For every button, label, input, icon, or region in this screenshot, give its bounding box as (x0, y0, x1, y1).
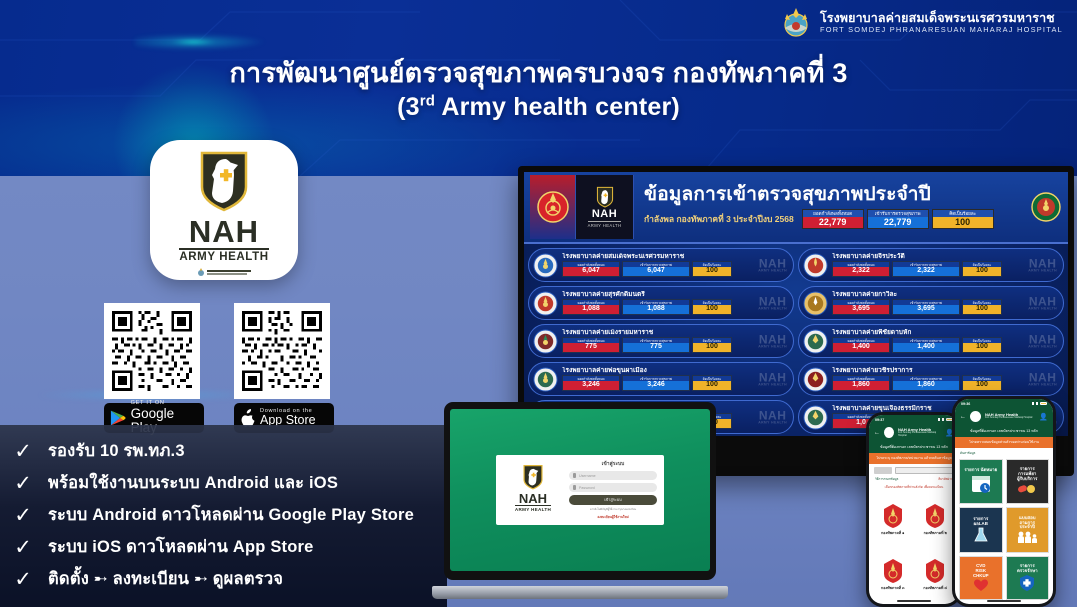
login-brand: NAH (519, 492, 547, 505)
hospital-checked: เข้ารับการตรวจสุขภาพ3,695 (892, 299, 960, 315)
accent-glow-top (135, 34, 265, 50)
hospital-checked-value: 1,088 (623, 305, 689, 314)
app-store-qr[interactable] (234, 303, 330, 399)
forgot-password-link[interactable]: ลืมรหัสผ่าน (938, 477, 953, 482)
poster-canvas: โรงพยาบาลค่ายสมเด็จพระนเรศวรมหาราช FORT … (0, 0, 1077, 607)
hospital-total-value: 1,400 (833, 343, 889, 352)
back-arrow-icon[interactable]: ← (960, 414, 966, 420)
phone-right-tile-grid: รายการ นัดหมาย รายการ การแพ้ยา ผู้รับบริ… (955, 459, 1053, 604)
hospital-total-value: 3,695 (833, 305, 889, 314)
dashboard-brand-sub: ARMY HEALTH (588, 221, 622, 228)
hospital-kpis: ยอดกำลังพลทั้งหมด3,695 เข้ารับการตรวจสุข… (832, 299, 1059, 315)
phone-mockup-left: 09:37 ← NAH Army Health Fort Somdej Phra… (866, 412, 962, 607)
hospital-total-value: 1,860 (833, 381, 889, 390)
service-tile-questionnaire-label: แบบสอบ ถามการ ประจำปี (1019, 516, 1036, 531)
search-input[interactable] (895, 467, 954, 474)
hospital-name: โรงพยาบาลค่ายสมเด็จพระนเรศวรมหาราช (562, 253, 789, 261)
login-tagline: ARMY HEALTH (515, 505, 551, 512)
list-item: ✓ พร้อมใช้งานบนระบบ Android และ iOS (10, 467, 447, 499)
hospital-checked-value: 3,695 (893, 305, 959, 314)
list-item: ✓ ระบบ Android ดาวโหลดผ่าน Google Play S… (10, 499, 447, 531)
family-icon (1016, 530, 1038, 544)
service-tile-cvd-risk-label: CVD RISK CHKUP (973, 564, 989, 579)
hospital-total-value: 1,088 (563, 305, 619, 314)
battery-icon (1040, 402, 1047, 406)
hospital-seal-icon (803, 329, 828, 354)
hospital-checked: เข้ารับการตรวจสุขภาพ3,246 (622, 375, 690, 391)
kpi-percent: คิดเป็นร้อยละ 100 (932, 209, 994, 230)
army-region-tile-label: กองทัพภาคที่ ๑ (881, 530, 904, 536)
laptop-notch (559, 402, 601, 409)
hospital-total-value: 2,322 (833, 267, 889, 276)
kpi-checked-value: 22,779 (868, 217, 928, 229)
phone-left-status-icons (938, 418, 953, 422)
phone-left-hint: เลือกกองทัพภาคที่ท่านสังกัด เพื่อลงทะเบี… (869, 484, 959, 493)
hospital-checked: เข้ารับการตรวจสุขภาพ6,047 (622, 261, 690, 277)
army-region-tile[interactable]: กองทัพภาคที่ ๑ (873, 493, 913, 545)
hospital-seal-icon (803, 367, 828, 392)
signal-icon (1032, 402, 1034, 405)
hospital-seal-icon (803, 405, 828, 430)
app-card-footer-text (207, 270, 251, 275)
army-region-tile-label: กองทัพภาคที่ ๔ (923, 585, 947, 591)
kpi-checked: เข้ารับการตรวจสุขภาพ 22,779 (867, 209, 929, 230)
hospital-total: ยอดกำลังพลทั้งหมด1,400 (832, 337, 890, 353)
royal-crest-icon (535, 189, 571, 225)
google-play-qr[interactable] (104, 303, 200, 399)
google-play-qr-block[interactable]: GET IT ON Google Play (104, 303, 204, 433)
hospital-checked-value: 1,860 (893, 381, 959, 390)
hospital-total: ยอดกำลังพลทั้งหมด775 (562, 337, 620, 353)
laptop-lid: NAH ARMY HEALTH เข้าสู่ระบบ Username Pas… (444, 402, 716, 580)
hospital-total: ยอดกำลังพลทั้งหมด3,246 (562, 375, 620, 391)
phone-left-screen: 09:37 ← NAH Army Health Fort Somdej Phra… (869, 415, 959, 604)
title-line-2-post: Army health center) (435, 93, 680, 121)
wifi-icon (1036, 402, 1038, 405)
table-row: โรงพยาบาลค่ายกาวิละ ยอดกำลังพลทั้งหมด3,6… (798, 286, 1064, 320)
hospital-percent: คิดเป็นร้อยละ100 (692, 375, 732, 391)
phone-left-search-row[interactable] (869, 464, 959, 477)
bullet-label: รองรับ 10 รพ.ทภ.3 (48, 438, 185, 464)
hospital-checked: เข้ารับการตรวจสุขภาพ1,088 (622, 299, 690, 315)
dashboard-nah-logo: NAH ARMY HEALTH (576, 175, 634, 239)
service-tile-treatment[interactable]: รายการ ตรวจรักษา (1006, 556, 1050, 600)
region-select[interactable] (874, 467, 892, 474)
hospital-mini-emblem-icon (197, 268, 205, 277)
hospital-name: โรงพยาบาลค่ายสุรศักดิ์มนตรี (562, 291, 789, 299)
phone-left-alert-bar: โปรดระบุ กองทัพภาค/หน่วยงาน แล้วกดค้นหาข… (869, 453, 959, 464)
password-field[interactable]: Password (569, 483, 657, 492)
phone-right-info-bar: ข้อมูลที่ต้องกรอก เลขบัตรประชาชน 13 หลัก (955, 425, 1053, 437)
hospital-total: ยอดกำลังพลทั้งหมด6,047 (562, 261, 620, 277)
hospital-kpis: ยอดกำลังพลทั้งหมด1,400 เข้ารับการตรวจสุข… (832, 337, 1059, 353)
phone-left-status-bar: 09:37 (869, 415, 959, 424)
thai-flag-banner (530, 175, 576, 239)
title-line-2: (3rd Army health center) (0, 92, 1077, 122)
heart-risk-icon (974, 579, 988, 592)
list-item: ✓ ระบบ iOS ดาวโหลดผ่าน App Store (10, 531, 447, 563)
hospital-seal-icon (803, 253, 828, 278)
hospital-total-value: 3,246 (563, 381, 619, 390)
army-region-tile[interactable]: กองทัพภาคที่ ๓ (873, 548, 913, 600)
hospital-kpis: ยอดกำลังพลทั้งหมด6,047 เข้ารับการตรวจสุข… (562, 261, 789, 277)
phone-left-navbar: ← NAH Army Health Fort Somdej Phranaresu… (869, 424, 959, 441)
hospital-info: โรงพยาบาลค่ายสุรศักดิ์มนตรี ยอดกำลังพลทั… (562, 291, 789, 315)
dashboard-subtitle: กำลังพล กองทัพภาคที่ 3 ประจำปีงบ 2568 (644, 212, 794, 226)
service-tile-appointments[interactable]: รายการ นัดหมาย (959, 459, 1003, 504)
hospital-info: โรงพยาบาลค่ายกาวิละ ยอดกำลังพลทั้งหมด3,6… (832, 291, 1059, 315)
phone-right-alert-bar: โปรดตรวจสอบข้อมูลส่วนตัวของท่านก่อนใช้งา… (955, 437, 1053, 448)
dashboard-title: ข้อมูลการเข้าตรวจสุขภาพประจำปี (644, 185, 1062, 206)
dashboard-brand: NAH (592, 209, 617, 220)
dashboard-kpi-group: ยอดกำลังพลทั้งหมด 22,779 เข้ารับการตรวจส… (802, 209, 994, 230)
hospital-info: โรงพยาบาลค่ายสมเด็จพระนเรศวรมหาราช ยอดกำ… (562, 253, 789, 277)
phone-left-info-bar: ข้อมูลที่ต้องกรอก เลขบัตรประชาชน 13 หลัก (869, 441, 959, 453)
service-tile-cvd-risk[interactable]: CVD RISK CHKUP (959, 556, 1003, 600)
check-icon: ✓ (10, 441, 36, 462)
login-note: หากยังไม่มีบัญชีผู้ใช้งาน กรุณาลงทะเบียน (590, 508, 636, 512)
hospital-logo-text: โรงพยาบาลค่ายสมเด็จพระนเรศวรมหาราช FORT … (820, 12, 1063, 34)
login-submit-button[interactable]: เข้าสู่ระบบ (569, 495, 657, 505)
hospital-name: โรงพยาบาลค่ายพ่อขุนผาเมือง (562, 367, 789, 375)
hospital-checked-value: 775 (623, 343, 689, 352)
hospital-percent-value: 100 (963, 381, 1001, 390)
hospital-seal-icon (533, 253, 558, 278)
footer-line-1 (207, 270, 251, 272)
dashboard-summary-row: กำลังพล กองทัพภาคที่ 3 ประจำปีงบ 2568 ยอ… (644, 209, 1062, 230)
hospital-percent-value: 100 (693, 343, 731, 352)
phone-right-app-title: NAH Army Health Fort Somdej Phranaresuan… (985, 413, 1032, 420)
hospital-total: ยอดกำลังพลทั้งหมด2,322 (832, 261, 890, 277)
kpi-total: ยอดกำลังพลทั้งหมด 22,779 (802, 209, 864, 230)
hospital-total: ยอดกำลังพลทั้งหมด3,695 (832, 299, 890, 315)
hospital-logo: โรงพยาบาลค่ายสมเด็จพระนเรศวรมหาราช FORT … (779, 6, 1063, 40)
hospital-name-en: FORT SOMDEJ PHRANARESUAN MAHARAJ HOSPITA… (820, 26, 1063, 34)
hospital-kpis: ยอดกำลังพลทั้งหมด1,088 เข้ารับการตรวจสุข… (562, 299, 789, 315)
phone-right-status-icons (1032, 402, 1047, 406)
hospital-percent: คิดเป็นร้อยละ100 (692, 337, 732, 353)
army-crest-icon (924, 558, 946, 584)
check-icon: ✓ (10, 537, 36, 558)
soldier-salute-shield-icon (520, 463, 546, 491)
back-arrow-icon[interactable]: ← (874, 430, 880, 436)
check-icon: ✓ (10, 473, 36, 494)
app-card-footer (197, 268, 251, 277)
hospital-percent: คิดเป็นร้อยละ100 (962, 299, 1002, 315)
calendar-clock-icon (970, 473, 992, 495)
hospital-seal-icon (533, 329, 558, 354)
laptop-mockup: NAH ARMY HEALTH เข้าสู่ระบบ Username Pas… (432, 402, 728, 607)
how-to-link[interactable]: วิธีการกรอกข้อมูล (875, 477, 898, 482)
login-card: NAH ARMY HEALTH เข้าสู่ระบบ Username Pas… (496, 455, 664, 525)
pills-icon (1017, 482, 1037, 496)
service-tile-treatment-label: รายการ ตรวจรักษา (1017, 564, 1038, 574)
hospital-percent: คิดเป็นร้อยละ100 (692, 299, 732, 315)
kpi-percent-label: คิดเป็นร้อยละ (933, 210, 993, 217)
hospital-seal-icon (803, 291, 828, 316)
app-brand: NAH (189, 216, 259, 247)
phone-left-tile-grid: กองทัพภาคที่ ๑ กองทัพภาคที่ ๒ กองทัพภาคท… (869, 493, 959, 604)
title-ordinal-suffix: rd (420, 93, 435, 110)
wifi-icon (942, 418, 944, 421)
hospital-percent-value: 100 (693, 267, 731, 276)
hospital-checked: เข้ารับการตรวจสุขภาพ775 (622, 337, 690, 353)
signal-icon (938, 418, 940, 421)
army-region-tile[interactable]: กองทัพภาคที่ ๔ (916, 548, 956, 600)
password-placeholder: Password (579, 486, 595, 490)
phone-left-app-subtitle: Fort Somdej Phranaresuan Maharaj Hospita… (898, 432, 941, 437)
phone-right-app-subtitle: Fort Somdej Phranaresuan Maharaj Hospita… (985, 417, 1032, 420)
table-row: โรงพยาบาลค่ายสุรศักดิ์มนตรี ยอดกำลังพลทั… (528, 286, 794, 320)
hospital-kpis: ยอดกำลังพลทั้งหมด1,860 เข้ารับการตรวจสุข… (832, 375, 1059, 391)
phone-right-search-label: ค้นหาข้อมูล (960, 451, 975, 456)
home-indicator (897, 600, 931, 602)
table-row: โรงพยาบาลค่ายเม็งรายมหาราช ยอดกำลังพลทั้… (528, 324, 794, 358)
hospital-kpis: ยอดกำลังพลทั้งหมด775 เข้ารับการตรวจสุขภา… (562, 337, 789, 353)
phone-right-status-bar: 09:36 (955, 399, 1053, 408)
service-tile-allergy-label: รายการ การแพ้ยา ผู้รับบริการ (1017, 467, 1037, 482)
kpi-total-value: 22,779 (803, 217, 863, 229)
hospital-info: โรงพยาบาลค่ายวชิรปราการ ยอดกำลังพลทั้งหม… (832, 367, 1059, 391)
footer-line-2 (207, 273, 247, 275)
hospital-percent: คิดเป็นร้อยละ100 (692, 261, 732, 277)
phone-right-search-row[interactable]: ค้นหาข้อมูล (955, 448, 1053, 459)
royal-thai-army-emblem-icon (779, 6, 813, 40)
list-item: ✓ ติดตั้ง ➸ ลงทะเบียน ➸ ดูผลตรวจ (10, 563, 447, 595)
service-tile-lab-label: รายการ ผลLAB (973, 517, 988, 527)
phone-right-screen: 09:36 ← NAH Army Health Fort Somdej Phra… (955, 399, 1053, 604)
dashboard-header: NAH ARMY HEALTH ข้อมูลการเข้าตรวจสุขภาพป… (524, 172, 1068, 244)
phone-right-navbar: ← NAH Army Health Fort Somdej Phranaresu… (955, 408, 1053, 425)
home-indicator (987, 600, 1021, 602)
phone-mockup-right: 09:36 ← NAH Army Health Fort Somdej Phra… (952, 396, 1056, 607)
hospital-percent: คิดเป็นร้อยละ100 (962, 337, 1002, 353)
username-placeholder: Username (579, 474, 596, 478)
table-row: โรงพยาบาลค่ายพ่อขุนผาเมือง ยอดกำลังพลทั้… (528, 362, 794, 396)
army-region-tile-label: กองทัพภาคที่ ๒ (924, 530, 947, 536)
kpi-percent-value: 100 (933, 217, 993, 229)
table-row: โรงพยาบาลค่ายวชิรปราการ ยอดกำลังพลทั้งหม… (798, 362, 1064, 396)
title-line-2-pre: (3 (397, 93, 420, 121)
hospital-total: ยอดกำลังพลทั้งหมด1,860 (832, 375, 890, 391)
check-icon: ✓ (10, 505, 36, 526)
hospital-seal-icon (533, 291, 558, 316)
bullet-label: ระบบ Android ดาวโหลดผ่าน Google Play Sto… (48, 502, 414, 528)
hospital-percent-value: 100 (963, 267, 1001, 276)
login-brand-block: NAH ARMY HEALTH (503, 463, 563, 517)
hospital-checked: เข้ารับการตรวจสุขภาพ1,400 (892, 337, 960, 353)
hospital-checked: เข้ารับการตรวจสุขภาพ1,860 (892, 375, 960, 391)
hospital-kpis: ยอดกำลังพลทั้งหมด3,246 เข้ารับการตรวจสุข… (562, 375, 789, 391)
bullet-label: ติดตั้ง ➸ ลงทะเบียน ➸ ดูผลตรวจ (48, 566, 283, 592)
army-region-tile[interactable]: กองทัพภาคที่ ๒ (916, 493, 956, 545)
hospital-total-value: 6,047 (563, 267, 619, 276)
username-field[interactable]: Username (569, 471, 657, 480)
kpi-total-label: ยอดกำลังพลทั้งหมด (803, 210, 863, 217)
lab-icon (973, 527, 989, 543)
nah-app-icon-card: NAH ARMY HEALTH (150, 140, 298, 280)
list-item: ✓ รองรับ 10 รพ.ทภ.3 (10, 435, 447, 467)
hospital-name: โรงพยาบาลค่ายวชิรปราการ (832, 367, 1059, 375)
army-region-seal-icon (1030, 191, 1062, 223)
poster-title: การพัฒนาศูนย์ตรวจสุขภาพครบวงจร กองทัพภาค… (0, 58, 1077, 122)
app-store-qr-block[interactable]: Download on the App Store (234, 303, 334, 433)
hospital-name-th: โรงพยาบาลค่ายสมเด็จพระนเรศวรมหาราช (820, 12, 1063, 25)
hospital-percent-value: 100 (693, 305, 731, 314)
hospital-seal-icon (533, 367, 558, 392)
hospital-name: โรงพยาบาลค่ายเม็งรายมหาราช (562, 329, 789, 337)
person-icon[interactable]: 👤 (1039, 413, 1048, 421)
dashboard-header-main: ข้อมูลการเข้าตรวจสุขภาพประจำปี กำลังพล ก… (634, 185, 1062, 230)
hospital-percent-value: 100 (693, 381, 731, 390)
laptop-base (432, 586, 728, 599)
hospital-checked-value: 3,246 (623, 381, 689, 390)
soldier-salute-shield-icon (594, 186, 616, 208)
army-crest-icon (924, 503, 946, 529)
hospital-info: โรงพยาบาลค่ายเม็งรายมหาราช ยอดกำลังพลทั้… (562, 329, 789, 353)
hospital-percent-value: 100 (963, 305, 1001, 314)
hospital-total: ยอดกำลังพลทั้งหมด1,088 (562, 299, 620, 315)
bullet-label: พร้อมใช้งานบนระบบ Android และ iOS (48, 470, 338, 496)
login-title: เข้าสู่ระบบ (602, 460, 625, 468)
user-icon (573, 473, 576, 478)
feature-bullet-list: ✓ รองรับ 10 รพ.ทภ.3 ✓ พร้อมใช้งานบนระบบ … (0, 425, 447, 607)
hospital-info: โรงพยาบาลค่ายพิชัยดาบหัก ยอดกำลังพลทั้งห… (832, 329, 1059, 353)
hospital-name: โรงพยาบาลค่ายจิรประวัติ (832, 253, 1059, 261)
bullet-label: ระบบ iOS ดาวโหลดผ่าน App Store (48, 534, 314, 560)
kpi-checked-label: เข้ารับการตรวจสุขภาพ (868, 210, 928, 217)
table-row: โรงพยาบาลค่ายจิรประวัติ ยอดกำลังพลทั้งหม… (798, 248, 1064, 282)
hospital-percent-value: 100 (963, 343, 1001, 352)
table-row: โรงพยาบาลค่ายสมเด็จพระนเรศวรมหาราช ยอดกำ… (528, 248, 794, 282)
hospital-seal-icon (970, 411, 981, 422)
lock-icon (573, 485, 576, 490)
phone-right-time: 09:36 (961, 402, 970, 406)
register-link[interactable]: ลงทะเบียนผู้ใช้งานใหม่ (597, 515, 628, 520)
title-line-1: การพัฒนาศูนย์ตรวจสุขภาพครบวงจร กองทัพภาค… (0, 58, 1077, 90)
hospital-name: โรงพยาบาลค่ายพิชัยดาบหัก (832, 329, 1059, 337)
service-tile-questionnaire[interactable]: แบบสอบ ถามการ ประจำปี (1006, 507, 1050, 552)
hospital-checked-value: 6,047 (623, 267, 689, 276)
army-region-tile-label: กองทัพภาคที่ ๓ (881, 585, 904, 591)
hospital-total-value: 775 (563, 343, 619, 352)
table-row: โรงพยาบาลค่ายพิชัยดาบหัก ยอดกำลังพลทั้งห… (798, 324, 1064, 358)
soldier-salute-shield-icon (192, 149, 256, 213)
service-tile-allergy[interactable]: รายการ การแพ้ยา ผู้รับบริการ (1006, 459, 1050, 504)
phone-left-links: วิธีการกรอกข้อมูล ลืมรหัสผ่าน (869, 477, 959, 484)
laptop-screen: NAH ARMY HEALTH เข้าสู่ระบบ Username Pas… (450, 409, 710, 571)
login-brand-footnote (533, 514, 534, 517)
check-icon: ✓ (10, 569, 36, 590)
hospital-info: โรงพยาบาลค่ายจิรประวัติ ยอดกำลังพลทั้งหม… (832, 253, 1059, 277)
army-crest-icon (882, 558, 904, 584)
hospital-checked: เข้ารับการตรวจสุขภาพ2,322 (892, 261, 960, 277)
app-tagline: ARMY HEALTH (179, 248, 268, 263)
hospital-info: โรงพยาบาลค่ายพ่อขุนผาเมือง ยอดกำลังพลทั้… (562, 367, 789, 391)
hospital-percent: คิดเป็นร้อยละ100 (962, 375, 1002, 391)
hospital-kpis: ยอดกำลังพลทั้งหมด2,322 เข้ารับการตรวจสุข… (832, 261, 1059, 277)
phone-left-time: 09:37 (875, 418, 884, 422)
login-form: เข้าสู่ระบบ Username Password เข้าสู่ระบ… (569, 460, 657, 520)
service-tile-lab[interactable]: รายการ ผลLAB (959, 507, 1003, 552)
health-shield-icon (1018, 574, 1036, 592)
hospital-percent: คิดเป็นร้อยละ100 (962, 261, 1002, 277)
army-crest-icon (882, 503, 904, 529)
hospital-checked-value: 2,322 (893, 267, 959, 276)
hospital-checked-value: 1,400 (893, 343, 959, 352)
hospital-name: โรงพยาบาลค่ายกาวิละ (832, 291, 1059, 299)
hospital-seal-icon (884, 427, 894, 438)
phone-left-app-title: NAH Army Health Fort Somdej Phranaresuan… (898, 428, 941, 438)
